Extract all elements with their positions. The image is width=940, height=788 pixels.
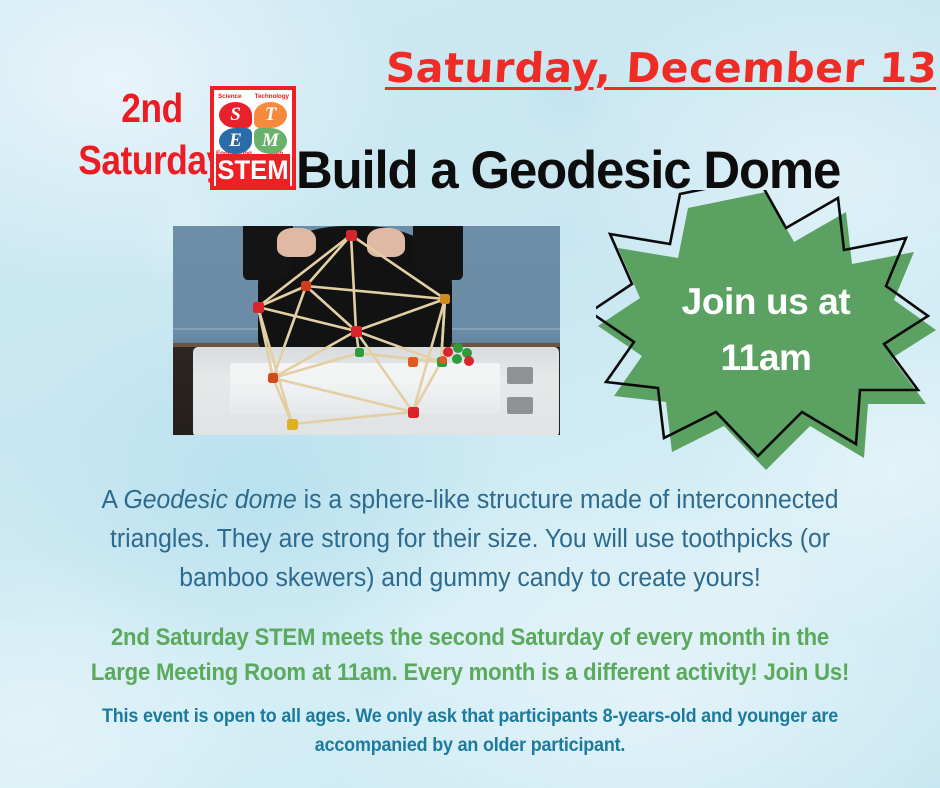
callout-text: Join us at 11am — [596, 274, 936, 386]
event-date-text: Saturday, December 13 — [385, 44, 939, 92]
stem-quadrant-t: T — [254, 102, 287, 128]
stem-quadrant-m: M — [254, 128, 287, 154]
description-lead: A — [102, 486, 124, 514]
stem-quadrant-e: E — [219, 128, 252, 154]
callout-starburst: Join us at 11am — [596, 190, 936, 470]
photo-loose-candies — [439, 343, 474, 366]
stem-label-science: Science — [218, 93, 241, 100]
recurring-event-note: 2nd Saturday STEM meets the second Satur… — [89, 620, 851, 690]
stem-logo: Science Technology Engineering Math S T … — [210, 86, 296, 190]
callout-line1: Join us at — [596, 274, 936, 330]
page-title: Build a Geodesic Dome — [296, 140, 840, 201]
stem-wordmark: STEM — [216, 154, 290, 186]
event-poster: 2nd Saturday Science Technology Engineer… — [0, 0, 940, 788]
stem-label-technology: Technology — [255, 93, 289, 100]
event-photo — [173, 226, 560, 435]
stem-quadrant-s: S — [219, 102, 252, 128]
photo-geodesic-dome — [173, 226, 560, 435]
stem-logo-quadrants: Science Technology Engineering Math S T … — [214, 90, 292, 158]
event-date: Saturday, December 13: — [386, 44, 940, 92]
age-policy-note: This event is open to all ages. We only … — [89, 702, 851, 760]
description-emphasis: Geodesic dome — [124, 486, 297, 514]
program-name-line1: 2nd — [121, 85, 182, 131]
callout-line2: 11am — [596, 330, 936, 386]
description-paragraph: A Geodesic dome is a sphere-like structu… — [68, 481, 871, 598]
